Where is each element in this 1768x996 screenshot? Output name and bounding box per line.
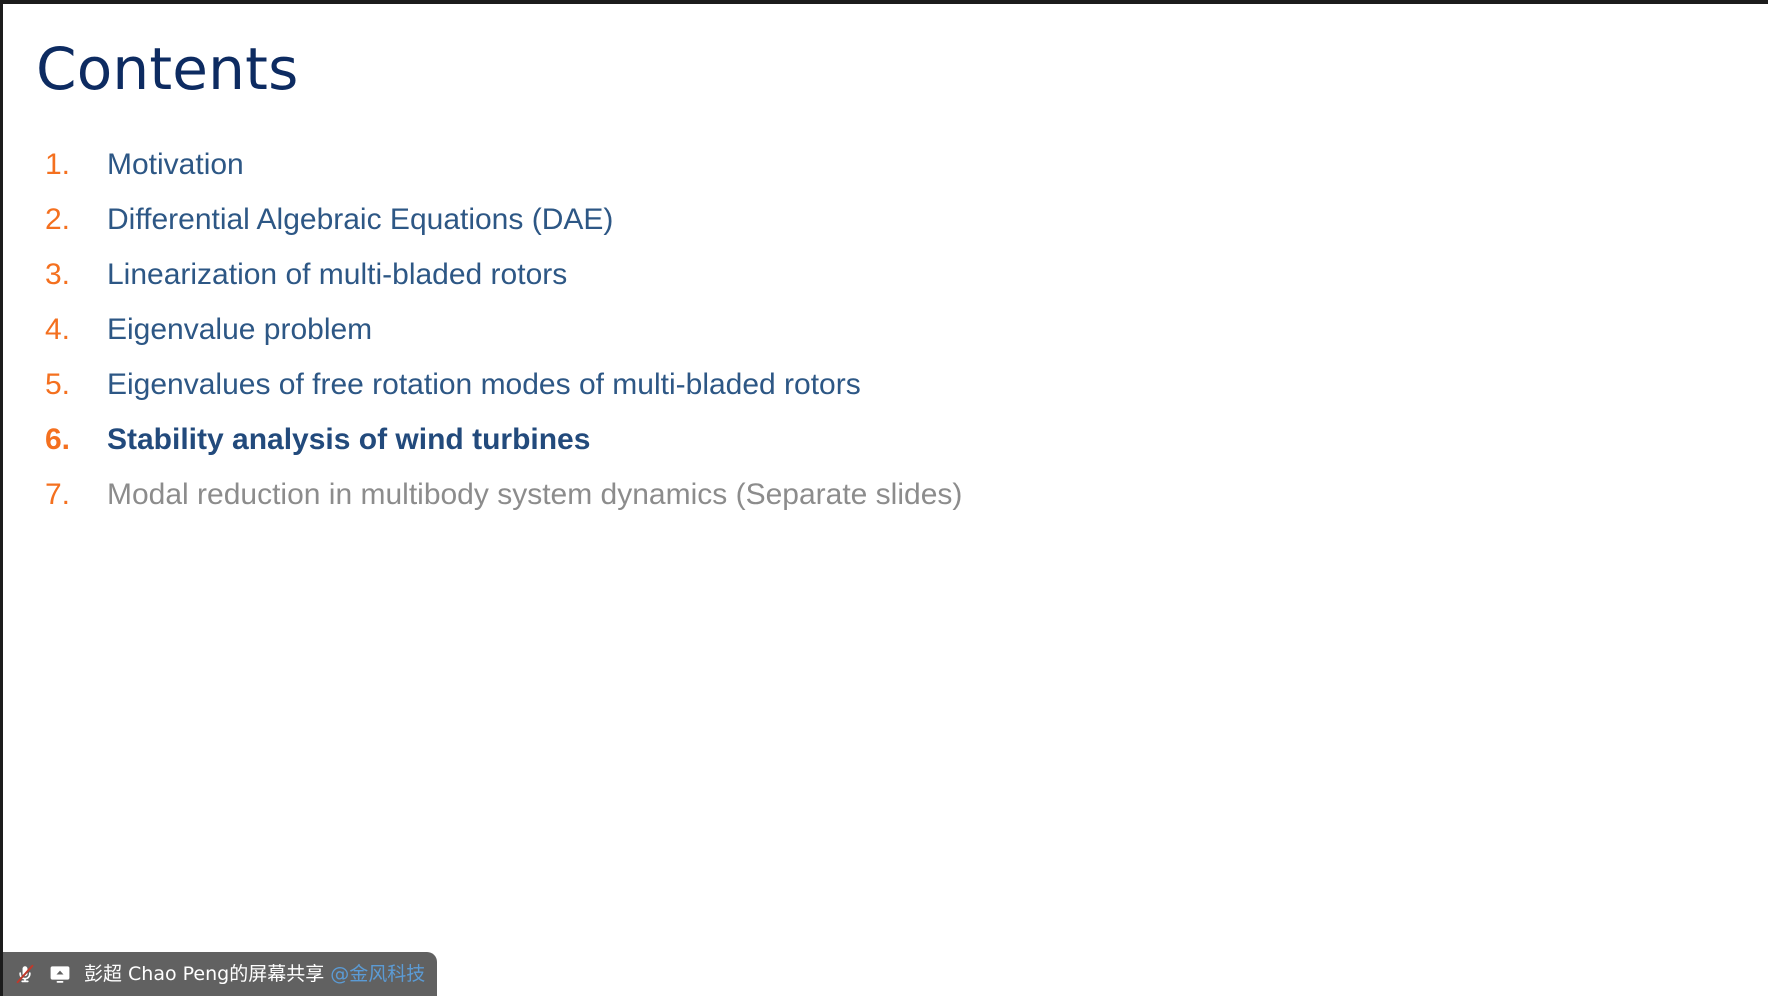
list-item-label: Motivation [107,148,244,182]
list-item-number: 2. [45,203,107,237]
list-item-label: Modal reduction in multibody system dyna… [107,478,962,512]
screen-share-icon[interactable] [47,961,73,987]
list-item[interactable]: 4. Eigenvalue problem [45,313,1645,368]
list-item-number: 7. [45,478,107,512]
list-item-number: 5. [45,368,107,402]
list-item-number: 4. [45,313,107,347]
list-item-label: Linearization of multi-bladed rotors [107,258,567,292]
share-presenter-label: 彭超 Chao Peng的屏幕共享 [84,963,324,985]
page-title: Contents [36,35,299,103]
list-item[interactable]: 7. Modal reduction in multibody system d… [45,478,1645,533]
list-item-number: 3. [45,258,107,292]
screen-share-status-bar[interactable]: 彭超 Chao Peng的屏幕共享 @金风科技 [3,952,437,996]
share-organization-label: @金风科技 [330,963,425,985]
contents-list: 1. Motivation 2. Differential Algebraic … [45,148,1645,533]
list-item[interactable]: 3. Linearization of multi-bladed rotors [45,258,1645,313]
list-item-active[interactable]: 6. Stability analysis of wind turbines [45,423,1645,478]
list-item-number: 1. [45,148,107,182]
list-item-number: 6. [45,423,107,457]
list-item[interactable]: 5. Eigenvalues of free rotation modes of… [45,368,1645,423]
list-item[interactable]: 1. Motivation [45,148,1645,203]
list-item-label: Differential Algebraic Equations (DAE) [107,203,613,237]
list-item[interactable]: 2. Differential Algebraic Equations (DAE… [45,203,1645,258]
slide-canvas: Contents 1. Motivation 2. Differential A… [0,0,1768,996]
list-item-label: Eigenvalue problem [107,313,372,347]
list-item-label: Stability analysis of wind turbines [107,423,590,457]
microphone-muted-icon[interactable] [12,961,38,987]
list-item-label: Eigenvalues of free rotation modes of mu… [107,368,861,402]
